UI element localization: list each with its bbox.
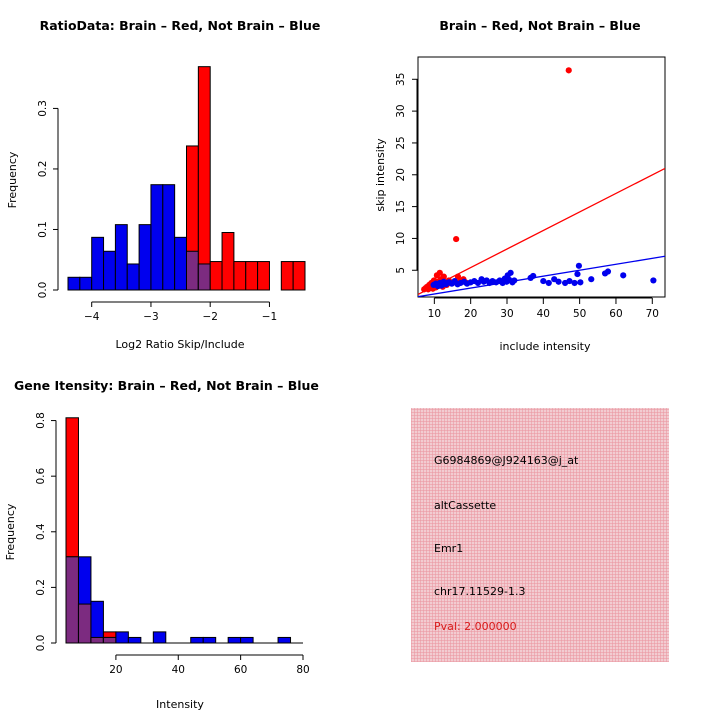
x-tick-label: −3 [143, 311, 158, 323]
histogram-bar-overlap [91, 637, 103, 643]
x-tick-label: 30 [500, 308, 513, 320]
histogram-bar [153, 632, 165, 643]
x-tick-label: 10 [428, 308, 441, 320]
histogram-bar-overlap [103, 637, 115, 643]
histogram-bar [151, 185, 163, 290]
histogram-bar [234, 262, 246, 290]
histogram-bar [92, 237, 104, 290]
y-tick-label: 5 [395, 267, 407, 274]
histogram-bar [210, 262, 222, 290]
scatter-point [574, 271, 580, 277]
scatter-point [577, 279, 583, 285]
gene-intensity-panel: Gene Itensity: Brain – Red, Not Brain – … [0, 360, 360, 720]
x-tick-label: 40 [172, 664, 185, 676]
y-tick-label: 0.3 [37, 100, 49, 117]
histogram-bar [203, 637, 215, 643]
scatter-point [566, 67, 572, 73]
scatter-point [571, 280, 577, 286]
x-tick-label: 20 [109, 664, 122, 676]
x-tick-label: −1 [262, 311, 277, 323]
x-tick-label: 60 [234, 664, 247, 676]
histogram-bar [293, 262, 305, 290]
probe-id-text: G6984869@J924163@j_at [434, 454, 578, 467]
histogram-bar [281, 262, 293, 290]
histogram-bar-overlap [66, 557, 78, 643]
y-tick-label: 0.1 [37, 221, 49, 238]
histogram-bar [278, 637, 290, 643]
y-tick-label: 0.2 [37, 161, 49, 178]
scatter-point [453, 236, 459, 242]
histogram-bar [246, 262, 258, 290]
x-tick-label: −2 [202, 311, 217, 323]
histogram-bar [222, 233, 234, 291]
histogram-bar [91, 601, 103, 643]
gene-intensity-svg: 0.00.20.40.60.820406080 Intensity Freque… [0, 360, 360, 720]
scatter-point [650, 277, 656, 283]
scatter-plot-frame [418, 57, 665, 297]
y-tick-label: 0.0 [37, 282, 49, 299]
scatter-point [546, 280, 552, 286]
histogram-bar-overlap [187, 251, 199, 290]
y-tick-label: 0.4 [35, 523, 47, 540]
ratio-histogram-xlabel: Log2 Ratio Skip/Include [115, 338, 244, 351]
locus-text: chr17.11529-1.3 [434, 585, 526, 598]
histogram-bar [116, 632, 128, 643]
y-tick-label: 25 [395, 136, 407, 149]
y-tick-label: 10 [395, 232, 407, 245]
x-tick-label: 60 [609, 308, 622, 320]
y-tick-label: 15 [395, 200, 407, 213]
histogram-bar [127, 264, 139, 290]
scatter-point [530, 273, 536, 279]
x-tick-label: 50 [573, 308, 586, 320]
y-tick-label: 35 [395, 73, 407, 86]
histogram-bar [80, 277, 92, 290]
histogram-bar-overlap [198, 264, 210, 290]
x-tick-label: −4 [84, 311, 100, 323]
histogram-bar [68, 277, 80, 290]
scatter-point [555, 279, 561, 285]
ratio-histogram-panel: RatioData: Brain – Red, Not Brain – Blue… [0, 0, 360, 360]
y-tick-label: 20 [395, 168, 407, 181]
histogram-bar [198, 67, 210, 290]
plot-frame [418, 57, 665, 297]
histogram-bar [191, 637, 203, 643]
y-tick-label: 0.8 [35, 412, 47, 429]
histogram-bar [175, 237, 187, 290]
histogram-bar [128, 637, 140, 643]
histogram-bar [115, 225, 127, 290]
histogram-bar [241, 637, 253, 643]
scatter-point [508, 270, 514, 276]
scatter-ylabel: skip intensity [374, 138, 387, 212]
histogram-bar [228, 637, 240, 643]
histogram-bar [258, 262, 270, 290]
y-tick-label: 0.0 [35, 635, 47, 652]
probe-info-box: G6984869@J924163@j_at altCassette Emr1 c… [411, 408, 669, 662]
probe-info-panel: G6984869@J924163@j_at altCassette Emr1 c… [360, 360, 720, 720]
scatter-point [620, 272, 626, 278]
histogram-bar [163, 185, 175, 290]
scatter-xlabel: include intensity [499, 340, 591, 353]
x-tick-label: 80 [296, 664, 309, 676]
scatter-point [511, 277, 517, 283]
x-tick-label: 20 [464, 308, 477, 320]
histogram-bar-overlap [78, 604, 90, 643]
ratio-histogram-bars [68, 67, 305, 290]
event-type-text: altCassette [434, 499, 496, 512]
y-tick-label: 30 [395, 104, 407, 117]
x-tick-label: 70 [646, 308, 659, 320]
gene-intensity-ylabel: Frequency [4, 503, 17, 560]
gene-intensity-bars [66, 418, 291, 643]
y-tick-label: 0.6 [35, 468, 47, 485]
histogram-bar [139, 225, 151, 290]
ratio-histogram-ylabel: Frequency [6, 151, 19, 208]
intensity-scatter-panel: Brain – Red, Not Brain – Blue 5101520253… [360, 0, 720, 360]
scatter-data-points [421, 67, 656, 292]
gene-symbol-text: Emr1 [434, 542, 463, 555]
scatter-point [540, 278, 546, 284]
ratio-histogram-svg: 0.00.10.20.3−4−3−2−1 Log2 Ratio Skip/Inc… [0, 0, 360, 360]
x-tick-label: 40 [537, 308, 550, 320]
y-tick-label: 0.2 [35, 579, 47, 596]
histogram-bar [104, 251, 116, 290]
scatter-point [605, 268, 611, 274]
scatter-point [576, 263, 582, 269]
gene-intensity-xlabel: Intensity [156, 698, 204, 711]
scatter-point [588, 276, 594, 282]
intensity-scatter-svg: 510152025303510203040506070 include inte… [360, 0, 720, 360]
brain-fit-line [418, 168, 665, 294]
pvalue-text: Pval: 2.000000 [434, 620, 517, 633]
